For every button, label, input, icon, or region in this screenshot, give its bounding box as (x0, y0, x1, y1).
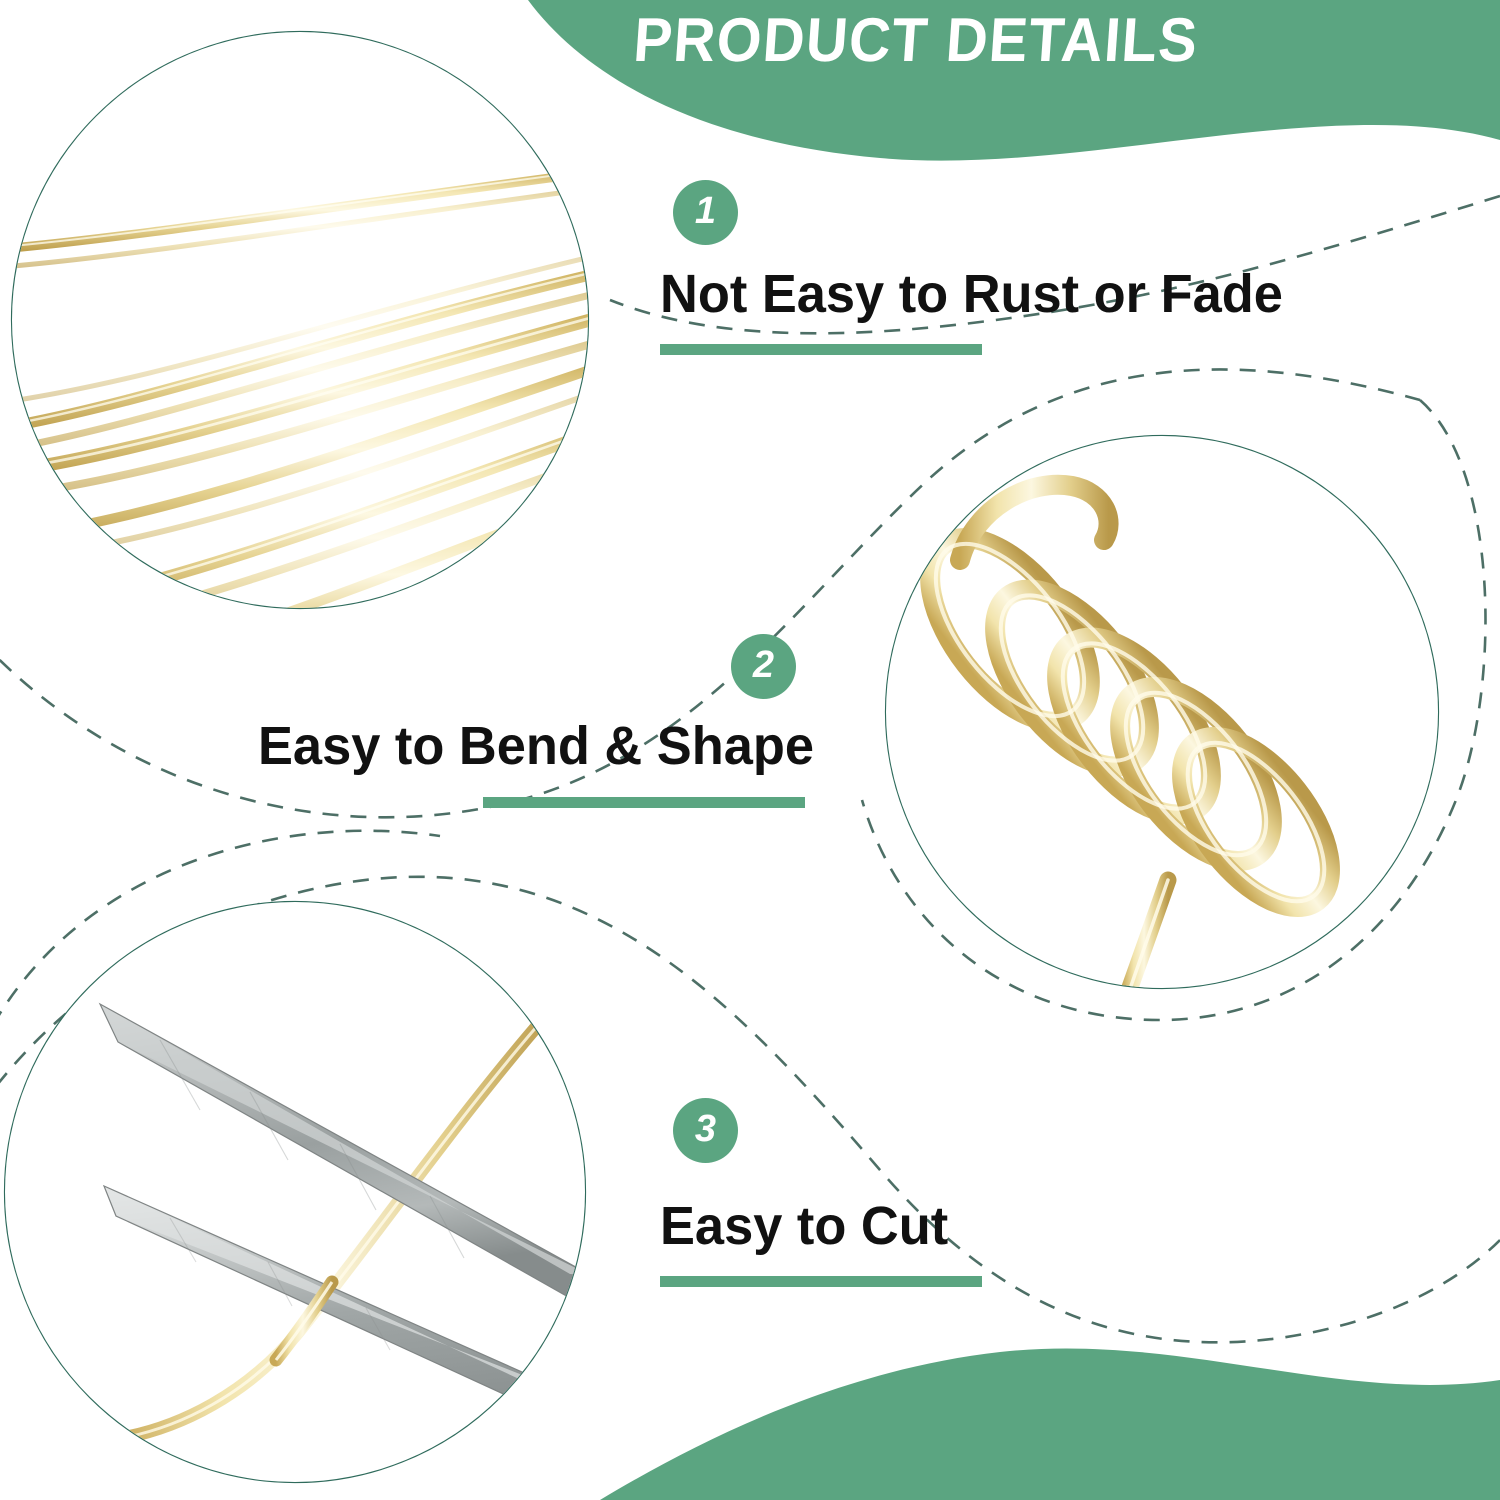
feature-heading-3: Easy to Cut (660, 1198, 948, 1255)
gold-wire-bundle-photo (0, 20, 690, 772)
feature-heading-2: Easy to Bend & Shape (258, 718, 814, 775)
feature-badge-1: 1 (673, 180, 738, 245)
feature-underline-3 (660, 1276, 982, 1287)
wire-cutter-jaws-photo (0, 900, 600, 1490)
feature-underline-1 (660, 344, 982, 355)
page-title: PRODUCT DETAILS (632, 10, 1287, 72)
feature-heading-1: Not Easy to Rust or Fade (660, 266, 1283, 323)
feature-underline-2 (483, 797, 805, 808)
feature-badge-2: 2 (731, 634, 796, 699)
gold-wire-coil-photo (880, 430, 1446, 1010)
product-details-infographic: PRODUCT DETAILS 1 Not Easy to Rust or Fa… (0, 0, 1500, 1500)
feature-badge-3: 3 (673, 1098, 738, 1163)
